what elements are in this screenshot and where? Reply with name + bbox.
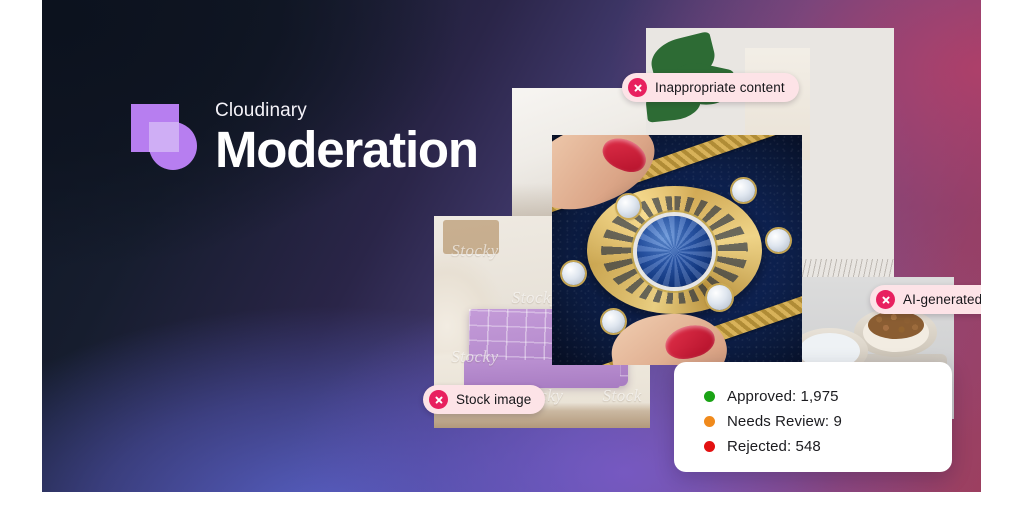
stat-label-needs-review: Needs Review: 9: [727, 413, 842, 430]
sapphire-gem: [637, 216, 712, 287]
stock-watermark: Stock: [602, 386, 641, 406]
diamond: [732, 179, 755, 202]
photo-jewelry: [552, 135, 802, 365]
moderation-stats-card: Approved: 1,975 Needs Review: 9 Rejected…: [674, 362, 952, 472]
x-circle-icon: [876, 290, 895, 309]
stat-row-approved: Approved: 1,975: [704, 384, 952, 409]
stat-row-rejected: Rejected: 548: [704, 434, 952, 459]
photo-jewelry-image: [552, 135, 802, 365]
brand-subtitle: Cloudinary: [215, 100, 478, 122]
brand-text: Cloudinary Moderation: [215, 98, 478, 177]
diamond: [767, 229, 790, 252]
stat-label-rejected: Rejected: 548: [727, 438, 821, 455]
stat-row-needs-review: Needs Review: 9: [704, 409, 952, 434]
status-dot-rejected: [704, 441, 715, 452]
badge-ai-generated[interactable]: AI-generated: [870, 285, 981, 314]
diamond: [707, 285, 732, 310]
x-circle-icon: [429, 390, 448, 409]
status-dot-needs-review: [704, 416, 715, 427]
badge-label: Stock image: [456, 392, 531, 407]
stat-label-approved: Approved: 1,975: [727, 388, 839, 405]
diamond: [617, 195, 640, 218]
woven-basket: [443, 220, 499, 254]
brand-lockup: Cloudinary Moderation: [131, 98, 478, 177]
badge-inappropriate-content[interactable]: Inappropriate content: [622, 73, 799, 102]
badge-stock-image[interactable]: Stock image: [423, 385, 545, 414]
diamond: [562, 262, 585, 285]
logo-overlap-shape: [149, 122, 179, 152]
x-circle-icon: [628, 78, 647, 97]
cloudinary-logo-icon: [131, 104, 197, 170]
diamond: [602, 310, 625, 333]
hero-canvas: Cloudinary Moderation Stocky Stocky: [42, 0, 981, 492]
status-dot-approved: [704, 391, 715, 402]
badge-label: Inappropriate content: [655, 80, 785, 95]
page-title: Moderation: [215, 123, 478, 177]
badge-label: AI-generated: [903, 292, 981, 307]
